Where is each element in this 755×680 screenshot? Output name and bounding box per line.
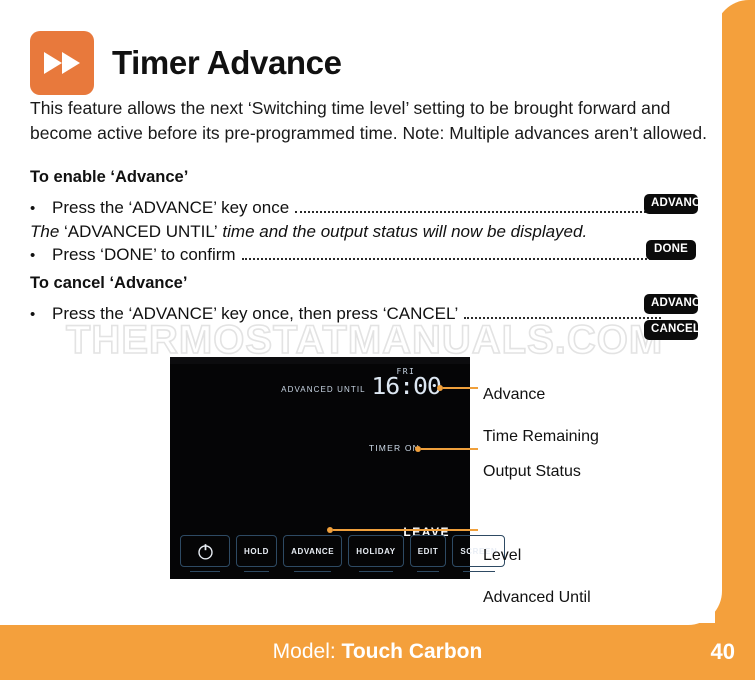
lcd-day-time-block: FRI 16:00 xyxy=(374,367,438,399)
bullet-marker: • xyxy=(30,200,52,217)
section-heading-cancel: To cancel ‘Advance’ xyxy=(30,274,187,293)
note-advanced-until: The ‘ADVANCED UNTIL’ time and the output… xyxy=(30,222,587,242)
leader-dots xyxy=(295,210,666,213)
note-post: time and the output status will now be d… xyxy=(218,222,588,241)
lcd-timer-status: TIMER ON xyxy=(170,443,420,453)
anno-line-advance-time xyxy=(443,387,478,389)
page-header: Timer Advance xyxy=(30,31,342,95)
device-screen-panel: ADVANCED UNTIL FRI 16:00 TIMER ON LEAVE … xyxy=(170,357,470,579)
anno-line-output-status xyxy=(421,448,478,450)
lcd-advanced-until-label: ADVANCED UNTIL xyxy=(281,385,366,399)
leader-dots xyxy=(242,257,666,260)
key-badge-cancel[interactable]: CANCEL xyxy=(644,320,698,340)
page-root: Timer Advance This feature allows the ne… xyxy=(0,0,755,680)
device-button-holiday[interactable]: HOLIDAY xyxy=(348,535,403,567)
anno-line-level xyxy=(333,529,478,531)
note-pre: The xyxy=(30,222,64,241)
intro-paragraph: This feature allows the next ‘Switching … xyxy=(30,96,720,146)
anno-dot-level xyxy=(327,527,333,533)
lcd-time: 16:00 xyxy=(371,376,440,399)
page-content: Timer Advance This feature allows the ne… xyxy=(0,0,755,680)
anno-dot-advance-time xyxy=(437,385,443,391)
anno-label-level-advanced-until: Level Advanced Until xyxy=(483,524,591,629)
bullet-marker: • xyxy=(30,247,52,264)
anno-line1: Output Status xyxy=(483,461,581,482)
lcd-advanced-until-row: ADVANCED UNTIL FRI 16:00 xyxy=(170,367,438,399)
bullet-text: Press ‘DONE’ to confirm xyxy=(52,245,236,265)
bullet-press-advance-once: • Press the ‘ADVANCE’ key once xyxy=(30,198,670,218)
device-button-hold[interactable]: HOLD xyxy=(236,535,277,567)
fast-forward-icon xyxy=(30,31,94,95)
anno-line1: Level xyxy=(483,545,591,566)
bullet-marker: • xyxy=(30,306,52,323)
key-badge-advance-2[interactable]: ADVANCE xyxy=(644,294,698,314)
note-upright: ‘ADVANCED UNTIL’ xyxy=(64,222,218,241)
device-button-power[interactable] xyxy=(180,535,230,567)
anno-line2: Advanced Until xyxy=(483,587,591,608)
anno-label-output-status: Output Status xyxy=(483,440,581,503)
page-title: Timer Advance xyxy=(112,44,342,82)
bullet-press-done: • Press ‘DONE’ to confirm xyxy=(30,245,670,265)
device-top-strip xyxy=(170,357,470,364)
anno-line1: Advance xyxy=(483,384,599,405)
bullet-text: Press the ‘ADVANCE’ key once xyxy=(52,198,289,218)
device-button-advance[interactable]: ADVANCE xyxy=(283,535,342,567)
anno-dot-output-status xyxy=(415,446,421,452)
key-badge-advance-1[interactable]: ADVANCE xyxy=(644,194,698,214)
key-badge-done[interactable]: DONE xyxy=(646,240,696,260)
power-icon xyxy=(196,542,215,561)
device-button-row: HOLD ADVANCE HOLIDAY EDIT SCREEN xyxy=(180,535,505,567)
section-heading-enable: To enable ‘Advance’ xyxy=(30,168,188,187)
device-button-edit[interactable]: EDIT xyxy=(410,535,447,567)
